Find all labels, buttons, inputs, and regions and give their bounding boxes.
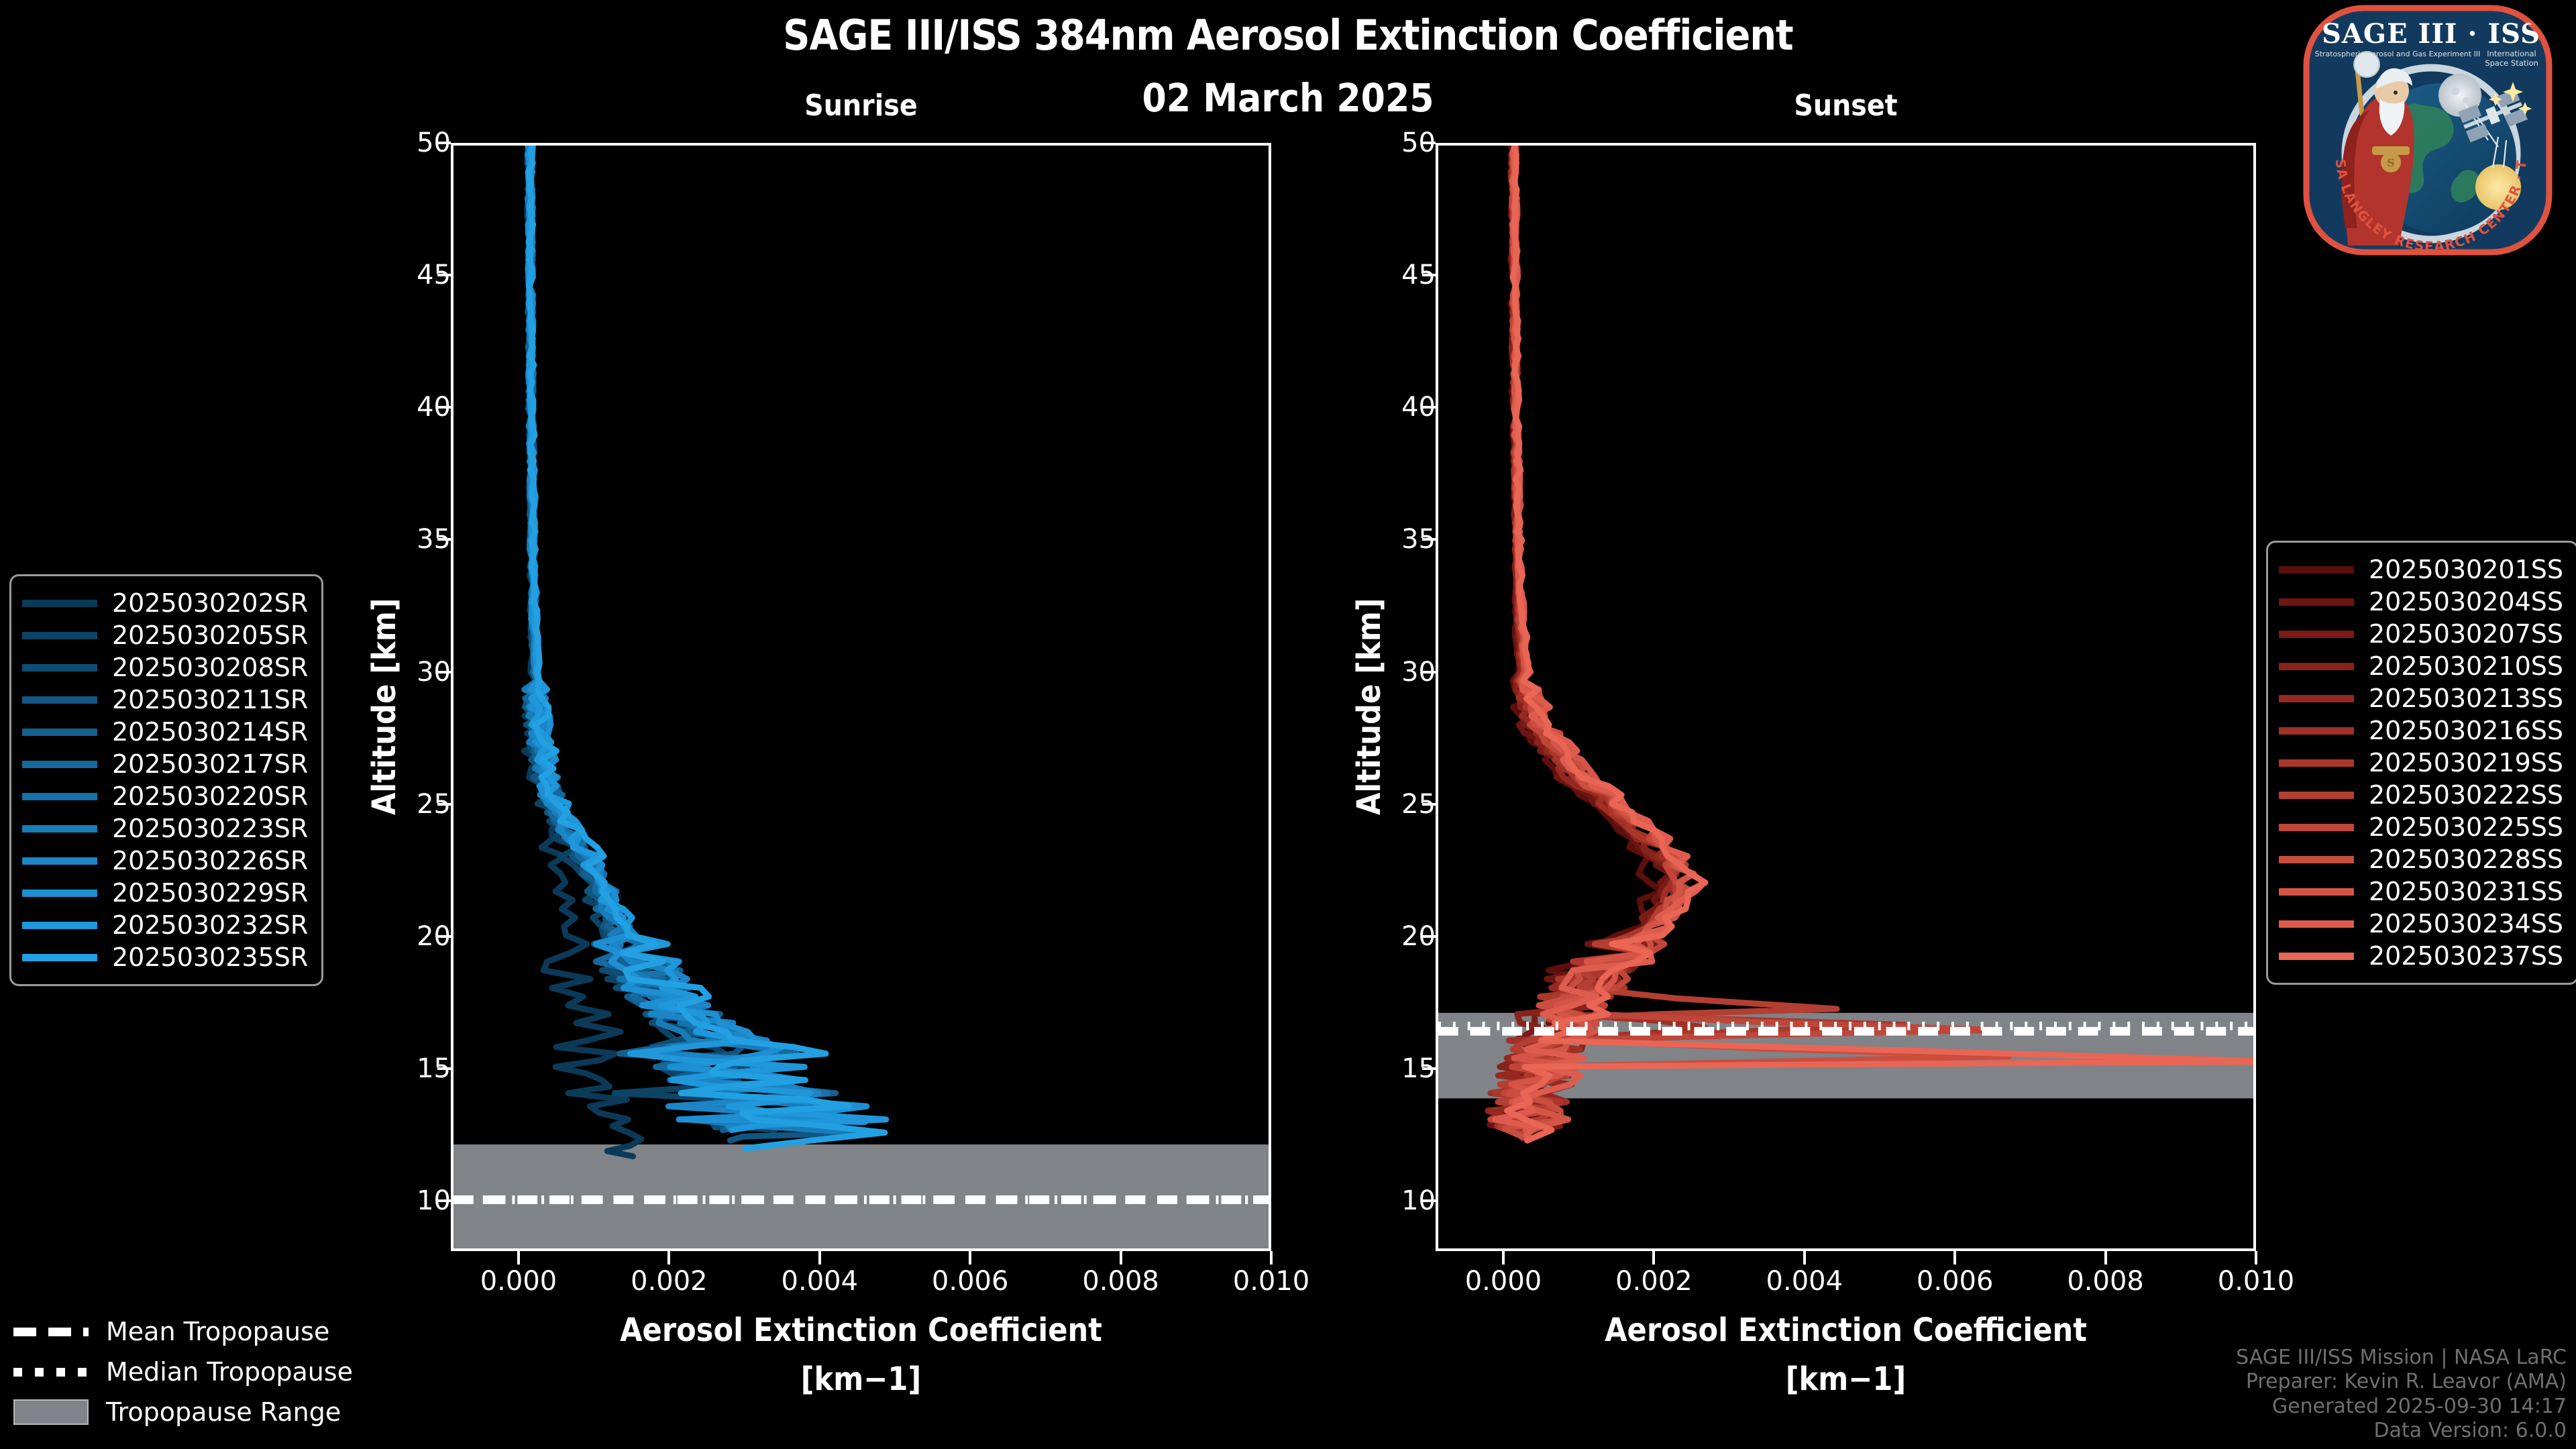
legend-item-label: 2025030223SR xyxy=(112,814,308,843)
xaxis-label-right-line2: [km−1] xyxy=(1436,1360,2256,1398)
y-axis-tick-mark xyxy=(437,671,451,674)
legend-item[interactable]: 2025030229SR xyxy=(22,877,308,909)
legend-color-swatch xyxy=(22,857,97,865)
legend-item[interactable]: 2025030217SR xyxy=(22,748,308,780)
y-axis-tick-mark xyxy=(437,406,451,409)
legend-item[interactable]: 2025030220SR xyxy=(22,780,308,812)
legend-item[interactable]: 2025030223SR xyxy=(22,812,308,845)
y-axis-tick-mark xyxy=(1422,406,1436,409)
y-axis-tick-mark xyxy=(1422,935,1436,938)
x-axis-tick-label: 0.010 xyxy=(1233,1266,1310,1297)
x-axis-tick-mark xyxy=(1270,1251,1273,1265)
legend-item-dotted[interactable]: Median Tropopause xyxy=(13,1352,353,1392)
y-axis-tick-mark xyxy=(1422,1067,1436,1070)
legend-dashed-swatch xyxy=(13,1328,89,1336)
legend-color-swatch xyxy=(22,600,97,607)
legend-item-label: 2025030214SR xyxy=(112,717,308,747)
credit-line-3: Generated 2025-09-30 14:17 xyxy=(2236,1395,2567,1419)
legend-color-swatch xyxy=(22,664,97,672)
legend-color-swatch xyxy=(22,825,97,833)
legend-color-swatch xyxy=(2279,727,2354,735)
legend-item[interactable]: 2025030207SS xyxy=(2279,618,2563,650)
x-axis-tick-mark xyxy=(1953,1251,1956,1265)
legend-color-swatch xyxy=(2279,759,2354,767)
legend-item-label: 2025030237SS xyxy=(2369,941,2563,971)
legend-item-label: 2025030213SS xyxy=(2369,684,2563,713)
legend-color-swatch xyxy=(2279,631,2354,638)
x-axis-tick-label: 0.008 xyxy=(2067,1266,2144,1297)
y-axis-tick-mark xyxy=(437,1067,451,1070)
legend-item[interactable]: 2025030214SR xyxy=(22,716,308,748)
y-axis-tick-mark xyxy=(1422,803,1436,806)
legend-item-label: 2025030201SS xyxy=(2369,555,2563,584)
svg-text:Stratospheric Aerosol and Gas: Stratospheric Aerosol and Gas Experiment… xyxy=(2315,50,2481,58)
x-axis-tick-mark xyxy=(969,1251,971,1265)
x-axis-tick-label: 0.000 xyxy=(1465,1266,1542,1297)
y-axis-tick-mark xyxy=(437,538,451,541)
yaxis-label-left: Altitude [km] xyxy=(366,598,403,815)
panel-subtitle-sunset: Sunset xyxy=(1436,89,2256,123)
x-axis-tick-mark xyxy=(1120,1251,1122,1265)
y-axis-tick-mark xyxy=(1422,538,1436,541)
legend-item[interactable]: 2025030216SS xyxy=(2279,714,2563,747)
x-axis-tick-mark xyxy=(2255,1251,2257,1265)
x-axis-tick-label: 0.006 xyxy=(932,1266,1009,1297)
y-axis-tick-mark xyxy=(437,1199,451,1202)
legend-dotted-swatch xyxy=(13,1368,89,1377)
legend-sunset: 2025030201SS2025030204SS2025030207SS2025… xyxy=(2266,541,2576,985)
legend-item[interactable]: 2025030231SS xyxy=(2279,875,2563,908)
legend-item[interactable]: 2025030235SR xyxy=(22,941,308,973)
legend-color-swatch xyxy=(2279,598,2354,606)
legend-sunrise: 2025030202SR2025030205SR2025030208SR2025… xyxy=(9,574,323,986)
legend-color-swatch xyxy=(2279,824,2354,831)
y-axis-tick-mark xyxy=(1422,1199,1436,1202)
legend-color-swatch xyxy=(22,696,97,704)
legend-color-swatch xyxy=(22,761,97,768)
x-axis-tick-label: 0.010 xyxy=(2218,1266,2295,1297)
legend-item-label: Median Tropopause xyxy=(106,1357,353,1387)
legend-item[interactable]: 2025030205SR xyxy=(22,619,308,651)
legend-item-label: 2025030211SR xyxy=(112,685,308,714)
legend-color-swatch xyxy=(2279,566,2354,574)
legend-item-label: 2025030229SR xyxy=(112,878,308,908)
legend-item-label: 2025030216SS xyxy=(2369,716,2563,745)
legend-color-swatch xyxy=(22,922,97,929)
x-axis-tick-mark xyxy=(667,1251,670,1265)
legend-item-label: Mean Tropopause xyxy=(106,1317,329,1346)
legend-color-swatch xyxy=(22,954,97,961)
legend-band-swatch xyxy=(13,1399,89,1425)
y-axis-tick-mark xyxy=(437,935,451,938)
legend-item-dashed[interactable]: Mean Tropopause xyxy=(13,1311,353,1352)
x-axis-tick-mark xyxy=(818,1251,821,1265)
legend-item[interactable]: 2025030234SS xyxy=(2279,908,2563,940)
tropopause-range-band xyxy=(453,1144,1269,1248)
sage-iii-iss-mission-patch-logo: SAGE III · ISS Stratospheric Aerosol and… xyxy=(2297,3,2559,258)
y-axis-tick-mark xyxy=(437,274,451,276)
svg-text:International: International xyxy=(2487,49,2536,58)
svg-text:S: S xyxy=(2387,156,2395,169)
legend-item[interactable]: 2025030208SR xyxy=(22,651,308,684)
x-axis-tick-mark xyxy=(1502,1251,1505,1265)
legend-item-label: 2025030208SR xyxy=(112,653,308,682)
credits-block: SAGE III/ISS Mission | NASA LaRC Prepare… xyxy=(2236,1346,2567,1444)
legend-color-swatch xyxy=(2279,792,2354,799)
plot-sunrise xyxy=(451,143,1271,1251)
x-axis-tick-mark xyxy=(2104,1251,2107,1265)
svg-text:SAGE III · ISS: SAGE III · ISS xyxy=(2322,18,2540,50)
legend-color-swatch xyxy=(2279,695,2354,702)
plot-sunset xyxy=(1436,143,2256,1251)
legend-item[interactable]: 2025030228SS xyxy=(2279,843,2563,875)
x-axis-tick-label: 0.002 xyxy=(631,1266,708,1297)
y-axis-tick-mark xyxy=(1422,671,1436,674)
legend-color-swatch xyxy=(2279,920,2354,928)
legend-item[interactable]: 2025030226SR xyxy=(22,845,308,877)
legend-color-swatch xyxy=(22,729,97,736)
svg-text:Space Station: Space Station xyxy=(2485,58,2538,68)
legend-item-label: 2025030222SS xyxy=(2369,780,2563,810)
legend-color-swatch xyxy=(2279,663,2354,670)
legend-item-label: 2025030210SS xyxy=(2369,651,2563,681)
legend-item[interactable]: 2025030237SS xyxy=(2279,940,2563,972)
x-axis-tick-label: 0.004 xyxy=(1766,1266,1843,1297)
legend-color-swatch xyxy=(2279,888,2354,896)
legend-item[interactable]: 2025030202SR xyxy=(22,587,308,619)
x-axis-tick-label: 0.004 xyxy=(782,1266,859,1297)
legend-item[interactable]: 2025030225SS xyxy=(2279,811,2563,843)
legend-item-label: 2025030220SR xyxy=(112,782,308,811)
legend-item[interactable]: 2025030211SR xyxy=(22,684,308,716)
x-axis-tick-label: 0.000 xyxy=(480,1266,557,1297)
profile-line xyxy=(524,146,641,1157)
legend-item[interactable]: 2025030201SS xyxy=(2279,553,2563,586)
legend-item-label: Tropopause Range xyxy=(106,1397,341,1427)
legend-item-label: 2025030202SR xyxy=(112,588,308,618)
legend-tropopause: Mean TropopauseMedian TropopauseTropopau… xyxy=(13,1311,353,1432)
legend-item-label: 2025030207SS xyxy=(2369,619,2563,649)
xaxis-label-left-line1: Aerosol Extinction Coefficient xyxy=(451,1311,1271,1349)
panel-subtitle-sunrise: Sunrise xyxy=(451,89,1271,123)
legend-color-swatch xyxy=(22,632,97,639)
legend-item-label: 2025030232SR xyxy=(112,910,308,940)
legend-item[interactable]: 2025030213SS xyxy=(2279,682,2563,714)
x-axis-tick-label: 0.008 xyxy=(1082,1266,1159,1297)
y-axis-tick-mark xyxy=(1422,142,1436,144)
legend-color-swatch xyxy=(2279,856,2354,863)
profile-line xyxy=(525,146,874,1140)
legend-item-band[interactable]: Tropopause Range xyxy=(13,1392,353,1432)
legend-item-label: 2025030219SS xyxy=(2369,748,2563,777)
y-axis-tick-mark xyxy=(1422,274,1436,276)
legend-item-label: 2025030204SS xyxy=(2369,587,2563,616)
credit-line-1: SAGE III/ISS Mission | NASA LaRC xyxy=(2236,1346,2567,1371)
legend-item-label: 2025030235SR xyxy=(112,943,308,972)
yaxis-label-right: Altitude [km] xyxy=(1350,598,1388,815)
y-axis-tick-mark xyxy=(437,803,451,806)
legend-color-swatch xyxy=(22,793,97,800)
legend-item[interactable]: 2025030222SS xyxy=(2279,779,2563,811)
legend-item-label: 2025030217SR xyxy=(112,749,308,779)
x-axis-tick-label: 0.006 xyxy=(1917,1266,1994,1297)
page-title: SAGE III/ISS 384nm Aerosol Extinction Co… xyxy=(0,11,2576,60)
legend-color-swatch xyxy=(2279,953,2354,960)
x-axis-tick-mark xyxy=(1652,1251,1655,1265)
legend-item-label: 2025030231SS xyxy=(2369,877,2563,906)
legend-item[interactable]: 2025030219SS xyxy=(2279,747,2563,779)
credit-line-4: Data Version: 6.0.0 xyxy=(2236,1419,2567,1444)
legend-item-label: 2025030228SS xyxy=(2369,845,2563,874)
x-axis-tick-mark xyxy=(1803,1251,1806,1265)
y-axis-tick-mark xyxy=(437,142,451,144)
legend-item-label: 2025030205SR xyxy=(112,621,308,650)
legend-item-label: 2025030234SS xyxy=(2369,909,2563,938)
legend-item-label: 2025030226SR xyxy=(112,846,308,875)
legend-item[interactable]: 2025030204SS xyxy=(2279,586,2563,618)
xaxis-label-left-line2: [km−1] xyxy=(451,1360,1271,1398)
legend-item-label: 2025030225SS xyxy=(2369,812,2563,842)
credit-line-2: Preparer: Kevin R. Leavor (AMA) xyxy=(2236,1370,2567,1395)
legend-item[interactable]: 2025030210SS xyxy=(2279,650,2563,682)
xaxis-label-right-line1: Aerosol Extinction Coefficient xyxy=(1436,1311,2256,1349)
legend-color-swatch xyxy=(22,890,97,897)
x-axis-tick-mark xyxy=(517,1251,520,1265)
x-axis-tick-label: 0.002 xyxy=(1615,1266,1693,1297)
legend-item[interactable]: 2025030232SR xyxy=(22,909,308,941)
